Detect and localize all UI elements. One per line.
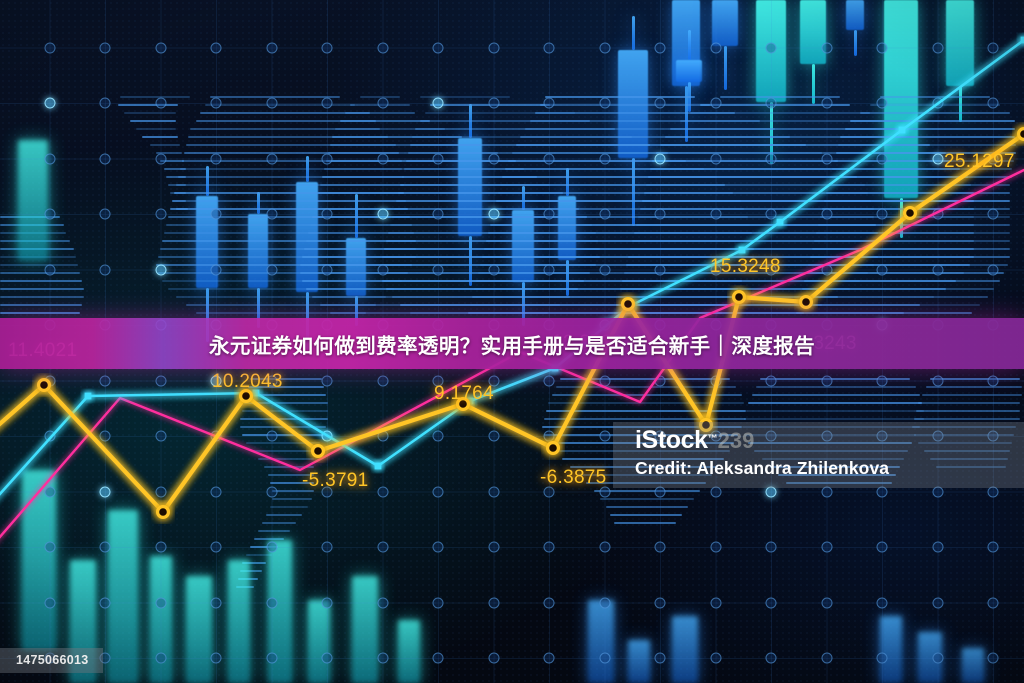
map-dash: [268, 474, 314, 476]
grid-node: [377, 264, 388, 275]
grid-node: [100, 542, 111, 553]
grid-node: [655, 375, 666, 386]
grid-node: [988, 375, 999, 386]
map-dash: [170, 208, 408, 210]
map-dash: [168, 184, 186, 186]
map-dash: [0, 280, 82, 282]
map-dash: [614, 522, 676, 524]
map-dash: [606, 506, 688, 508]
grid-node: [877, 98, 888, 109]
candle-wick: [566, 260, 569, 296]
grid-node: [544, 653, 555, 664]
map-dash: [156, 264, 412, 266]
grid-node: [932, 597, 943, 608]
map-dash: [556, 386, 736, 388]
map-dash: [406, 160, 686, 162]
data-point-marker: [241, 391, 252, 402]
map-dash: [796, 312, 972, 314]
map-dash: [300, 272, 590, 274]
watermark-ghost-number: 239: [718, 428, 755, 453]
grid-node: [433, 153, 444, 164]
map-dash: [300, 264, 596, 266]
grid-node: [44, 264, 55, 275]
grid-node: [932, 42, 943, 53]
grid-node: [44, 431, 55, 442]
grid-node: [155, 153, 166, 164]
map-dash: [246, 554, 272, 556]
grid-node: [100, 153, 111, 164]
map-dash: [318, 192, 563, 194]
data-point-marker: [801, 297, 812, 308]
map-dash: [838, 144, 1016, 146]
map-dash: [184, 152, 399, 154]
map-dash: [178, 176, 404, 178]
map-dash: [610, 514, 682, 516]
candlestick-body: [628, 640, 650, 683]
grid-node: [821, 375, 832, 386]
map-dash: [312, 216, 587, 218]
grid-node: [544, 264, 555, 275]
candle-wick: [306, 156, 309, 182]
map-dash: [680, 120, 890, 122]
map-dash: [628, 256, 974, 258]
candlestick-body: [308, 600, 330, 683]
grid-node: [877, 42, 888, 53]
map-dash: [272, 498, 312, 500]
grid-node: [433, 264, 444, 275]
grid-node: [100, 431, 111, 442]
grid-node: [988, 542, 999, 553]
map-dash: [270, 482, 314, 484]
data-point-marker: [623, 299, 634, 310]
data-point-marker: [458, 399, 469, 410]
candlestick-body: [756, 0, 786, 102]
grid-node: [599, 42, 610, 53]
grid-node: [710, 98, 721, 109]
data-point-marker: [899, 127, 906, 134]
page-title: 永元证券如何做到费率透明？实用手册与是否适合新手｜深度报告: [209, 329, 815, 359]
grid-node: [433, 98, 444, 109]
map-dash: [0, 264, 78, 266]
grid-node: [544, 431, 555, 442]
grid-node: [266, 209, 277, 220]
map-dash: [798, 304, 980, 306]
map-dash: [0, 216, 60, 218]
map-dash: [474, 288, 850, 290]
map-dash: [640, 208, 974, 210]
grid-node: [488, 98, 499, 109]
candlestick-body: [884, 0, 918, 198]
grid-node: [544, 375, 555, 386]
map-dash: [124, 112, 176, 114]
grid-node: [377, 98, 388, 109]
grid-node: [655, 153, 666, 164]
grid-node: [766, 264, 777, 275]
grid-node: [266, 653, 277, 664]
data-point-marker: [1021, 37, 1024, 44]
grid-node: [599, 597, 610, 608]
grid-node: [821, 264, 832, 275]
grid-node: [599, 209, 610, 220]
candlestick-body: [196, 196, 218, 288]
map-dash: [540, 104, 710, 106]
grid-node: [155, 653, 166, 664]
grid-node: [322, 42, 333, 53]
map-dash: [744, 418, 924, 420]
candle-wick: [812, 64, 815, 104]
map-dash: [150, 144, 180, 146]
grid-node: [710, 542, 721, 553]
candlestick-body: [18, 140, 48, 260]
map-dash: [614, 312, 904, 314]
candle-wick: [469, 104, 472, 138]
map-dash: [176, 184, 404, 186]
map-dash: [396, 200, 741, 202]
map-dash: [810, 256, 1010, 258]
grid-node: [211, 264, 222, 275]
map-dash: [508, 160, 838, 162]
grid-node: [488, 486, 499, 497]
grid-node: [488, 597, 499, 608]
map-dash: [392, 296, 734, 298]
grid-node: [544, 486, 555, 497]
map-dash: [498, 192, 868, 194]
grid-node: [377, 431, 388, 442]
map-dash: [326, 160, 516, 162]
map-dash: [142, 136, 178, 138]
map-dash: [320, 304, 560, 306]
grid-node: [710, 209, 721, 220]
map-dash: [816, 232, 1010, 234]
map-dash: [248, 386, 324, 388]
watermark-brand-row: iStock™239: [635, 426, 1024, 455]
grid-node: [655, 653, 666, 664]
grid-node: [655, 542, 666, 553]
map-dash: [834, 160, 1014, 162]
grid-node: [377, 597, 388, 608]
candlestick-body: [712, 0, 738, 46]
map-dash: [752, 394, 920, 396]
map-dash: [560, 378, 730, 380]
grid-node: [433, 653, 444, 664]
map-dash: [626, 264, 970, 266]
map-dash: [478, 272, 868, 274]
map-dash: [930, 378, 1020, 380]
map-dash: [306, 288, 578, 290]
map-dash: [720, 96, 840, 98]
grid-node: [710, 153, 721, 164]
trademark-icon: ™: [708, 434, 718, 445]
map-dash: [162, 240, 416, 242]
map-dash: [408, 152, 668, 154]
grid-node: [100, 486, 111, 497]
grid-node: [710, 597, 721, 608]
map-dash: [314, 208, 579, 210]
grid-node: [821, 542, 832, 553]
grid-node: [322, 431, 333, 442]
grid-node: [211, 542, 222, 553]
map-dash: [380, 264, 750, 266]
data-point-marker: [1019, 129, 1024, 140]
grid-node: [932, 542, 943, 553]
grid-node: [544, 597, 555, 608]
grid-node: [322, 597, 333, 608]
map-dash: [156, 152, 182, 154]
map-dash: [836, 152, 1016, 154]
map-dash: [164, 168, 186, 170]
map-dash: [312, 296, 570, 298]
map-dash: [0, 248, 74, 250]
map-dash: [196, 120, 376, 122]
map-dash: [246, 394, 326, 396]
candlestick-body: [800, 0, 826, 64]
candlestick-body: [672, 0, 700, 86]
map-dash: [162, 280, 402, 282]
grid-node: [655, 597, 666, 608]
grid-node: [322, 653, 333, 664]
grid-node: [599, 375, 610, 386]
map-dash: [158, 256, 416, 258]
candlestick-body: [398, 620, 420, 683]
grid-node: [377, 42, 388, 53]
map-dash: [500, 184, 865, 186]
candle-wick: [900, 198, 903, 238]
data-point-marker: [313, 446, 324, 457]
map-dash: [488, 232, 878, 234]
grid-node: [266, 431, 277, 442]
map-dash: [174, 192, 404, 194]
grid-node: [599, 542, 610, 553]
map-dash: [505, 168, 850, 170]
grid-node: [377, 653, 388, 664]
grid-node: [211, 375, 222, 386]
map-dash: [170, 192, 186, 194]
map-dash: [840, 136, 1015, 138]
map-dash: [650, 168, 960, 170]
map-dash: [238, 578, 258, 580]
map-dash: [172, 200, 186, 202]
data-point-marker: [627, 303, 634, 310]
map-dash: [832, 168, 1012, 170]
grid-node: [433, 42, 444, 53]
map-dash: [660, 144, 930, 146]
grid-node: [877, 542, 888, 553]
map-dash: [472, 296, 838, 298]
candlestick-body: [458, 138, 482, 236]
grid-node: [655, 209, 666, 220]
map-dash: [0, 296, 84, 298]
map-dash: [690, 112, 870, 114]
candlestick-body: [346, 238, 366, 296]
map-dash: [386, 288, 738, 290]
grid-node: [322, 153, 333, 164]
map-dash: [322, 176, 537, 178]
grid-node: [266, 375, 277, 386]
map-dash: [160, 248, 416, 250]
map-dash: [808, 264, 1008, 266]
grid-node: [322, 98, 333, 109]
map-dash: [384, 248, 754, 250]
map-dash: [870, 104, 1000, 106]
map-dash: [648, 176, 968, 178]
data-point-marker: [739, 247, 746, 254]
candle-wick: [724, 46, 727, 90]
istock-watermark: iStock™239 Credit: Aleksandra Zhilenkova: [613, 422, 1024, 488]
grid-node: [322, 209, 333, 220]
grid-node: [877, 209, 888, 220]
grid-node: [932, 153, 943, 164]
map-dash: [806, 272, 1004, 274]
grid-node: [44, 42, 55, 53]
candlestick-body: [150, 556, 172, 683]
map-dash: [244, 402, 328, 404]
grid-node: [211, 653, 222, 664]
data-value-label: 10.2043: [212, 371, 283, 393]
map-dash: [520, 136, 790, 138]
grid-node: [44, 486, 55, 497]
map-dash: [310, 224, 592, 226]
map-dash: [412, 136, 632, 138]
map-dash: [468, 312, 804, 314]
grid-node: [100, 98, 111, 109]
grid-node: [821, 597, 832, 608]
grid-node: [599, 653, 610, 664]
map-dash: [490, 224, 876, 226]
map-dash: [158, 272, 408, 274]
grid-node: [44, 153, 55, 164]
candle-wick: [257, 192, 260, 214]
map-dash: [642, 200, 974, 202]
candle-wick: [685, 86, 688, 142]
map-dash: [634, 232, 974, 234]
grid-node: [988, 597, 999, 608]
grid-node: [599, 486, 610, 497]
map-dash: [845, 128, 1015, 130]
grid-node: [821, 153, 832, 164]
map-dash: [492, 216, 874, 218]
map-dash: [916, 410, 1020, 412]
map-dash: [190, 128, 380, 130]
map-dash: [548, 402, 744, 404]
grid-node: [155, 597, 166, 608]
asset-id-chip: 1475066013: [0, 648, 103, 673]
candle-wick: [469, 236, 472, 286]
map-dash: [350, 104, 410, 106]
grid-node: [433, 431, 444, 442]
map-dash: [0, 312, 80, 314]
grid-node: [488, 153, 499, 164]
grid-node: [377, 209, 388, 220]
map-dash: [242, 434, 324, 436]
map-dash: [252, 450, 316, 452]
candlestick-body: [228, 560, 250, 683]
map-dash: [250, 378, 322, 380]
map-dash: [0, 232, 66, 234]
grid-node: [544, 542, 555, 553]
map-dash: [308, 232, 596, 234]
map-dash: [918, 402, 1020, 404]
map-dash: [820, 216, 1010, 218]
grid-node: [988, 42, 999, 53]
map-dash: [404, 168, 704, 170]
map-dash: [180, 168, 402, 170]
grid-node: [488, 209, 499, 220]
candlestick-body: [918, 632, 942, 683]
map-dash: [0, 288, 84, 290]
grid-node: [655, 264, 666, 275]
grid-node: [710, 42, 721, 53]
grid-node: [766, 98, 777, 109]
map-dash: [850, 120, 1015, 122]
map-dash: [496, 200, 871, 202]
map-dash: [324, 168, 524, 170]
candle-wick: [632, 16, 635, 50]
map-dash: [824, 200, 1010, 202]
candle-wick: [522, 186, 525, 210]
map-dash: [382, 280, 742, 282]
map-dash: [242, 410, 328, 412]
grid-node: [710, 264, 721, 275]
map-dash: [470, 304, 822, 306]
grid-node: [544, 209, 555, 220]
candle-wick: [688, 82, 691, 112]
grid-node: [932, 653, 943, 664]
grid-node: [44, 209, 55, 220]
candlestick-body: [676, 60, 702, 82]
map-dash: [242, 562, 266, 564]
candle-wick: [854, 30, 857, 56]
grid-node: [821, 98, 832, 109]
screenshot-root: 11.402110.2043-5.37919.1764-6.387512.872…: [0, 0, 1024, 683]
map-dash: [922, 394, 1022, 396]
map-dash: [316, 200, 571, 202]
map-dash: [250, 546, 278, 548]
grid-node: [377, 153, 388, 164]
map-dash: [386, 240, 754, 242]
map-dash: [388, 232, 752, 234]
map-dash: [486, 240, 878, 242]
map-dash: [240, 418, 328, 420]
grid-node: [877, 597, 888, 608]
map-dash: [188, 136, 388, 138]
map-dash: [136, 128, 176, 130]
grid-node: [544, 153, 555, 164]
map-dash: [320, 184, 550, 186]
grid-node: [155, 486, 166, 497]
data-point-marker: [39, 380, 50, 391]
grid-node: [44, 375, 55, 386]
grid-node: [433, 209, 444, 220]
map-dash: [630, 248, 974, 250]
grid-node: [488, 264, 499, 275]
candlestick-body: [558, 196, 576, 260]
grid-node: [44, 542, 55, 553]
map-dash: [484, 248, 878, 250]
map-dash: [302, 280, 584, 282]
grid-node: [44, 98, 55, 109]
candle-wick: [688, 30, 691, 60]
map-dash: [240, 570, 262, 572]
grid-node: [377, 486, 388, 497]
data-point-marker: [158, 507, 169, 518]
candlestick-body: [186, 576, 212, 683]
data-value-label: 15.3248: [710, 256, 781, 278]
map-dash: [258, 530, 290, 532]
map-dash: [0, 240, 70, 242]
credit-text: Credit: Aleksandra Zhilenkova: [635, 458, 1024, 479]
candlestick-body: [22, 470, 56, 650]
map-dash: [860, 112, 1010, 114]
